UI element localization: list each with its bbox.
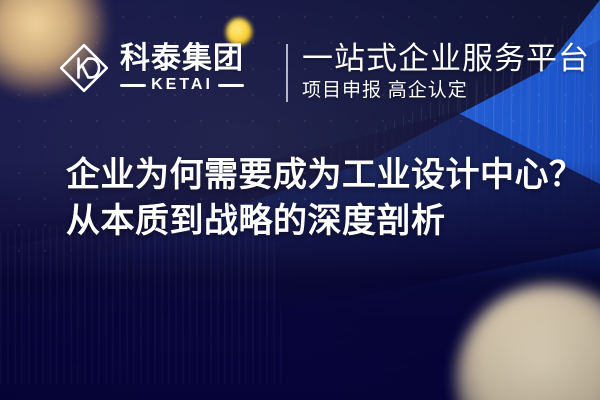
brand-logo-text: 科泰集团 KETAI [120,43,244,93]
ketai-diamond-monogram-icon [58,42,110,94]
slogan-block: 一站式企业服务平台 项目申报 高企认定 [302,40,590,104]
slogan-sub: 项目申报 高企认定 [302,78,590,104]
headline-line-2: 从本质到战略的深度剖析 [66,198,584,244]
headline-line-1: 企业为何需要成为工业设计中心？ [66,152,584,198]
headline-block: 企业为何需要成为工业设计中心？ 从本质到战略的深度剖析 [66,152,584,244]
brand-name-en: KETAI [151,77,213,93]
brand-name-en-row: KETAI [120,77,244,93]
logo-dash-right-icon [218,84,244,87]
promo-banner: 科泰集团 KETAI 一站式企业服务平台 项目申报 高企认定 企业为何需要成为工… [0,0,600,400]
slogan-main: 一站式企业服务平台 [302,40,590,77]
logo-dash-left-icon [120,84,146,87]
vertical-divider [286,44,288,102]
brand-name-cn: 科泰集团 [120,43,244,75]
brand-logo[interactable]: 科泰集团 KETAI [58,42,244,94]
banner-content: 科泰集团 KETAI 一站式企业服务平台 项目申报 高企认定 企业为何需要成为工… [0,0,600,400]
